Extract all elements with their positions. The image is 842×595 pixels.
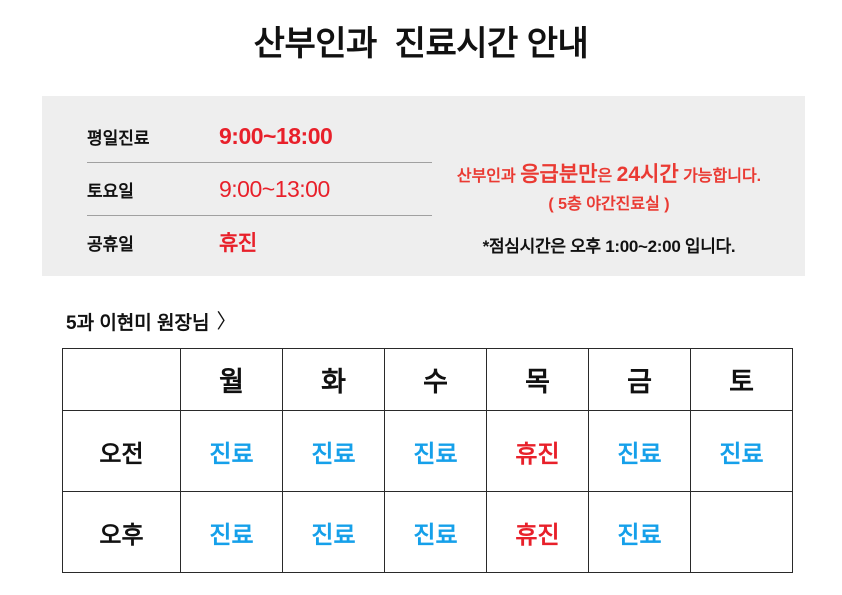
emergency-text-2: 은	[597, 168, 616, 185]
doctor-name: 5과 이현미 원장님	[66, 308, 210, 335]
emergency-highlight-24h: 24시간	[617, 163, 679, 186]
hours-label-weekday: 평일진료	[87, 124, 219, 149]
schedule-cell-afternoon-fri: 진료	[589, 492, 691, 573]
emergency-location-note: ( 5층 야간진료실 )	[414, 190, 804, 214]
hours-label-holiday: 공휴일	[87, 230, 219, 255]
schedule-cell-afternoon-tue: 진료	[283, 492, 385, 573]
table-row: 오후 진료 진료 진료 휴진 진료	[63, 492, 793, 573]
schedule-rowlabel-morning: 오전	[63, 411, 181, 492]
schedule-header-row: 월 화 수 목 금 토	[63, 349, 793, 411]
page-title: 산부인과 진료시간 안내	[0, 16, 842, 65]
hours-value-weekday: 9:00~18:00	[219, 123, 332, 150]
weekly-hours-list: 평일진료 9:00~18:00 토요일 9:00~13:00 공휴일 휴진	[87, 110, 432, 268]
schedule-corner-cell	[63, 349, 181, 411]
hours-row-saturday: 토요일 9:00~13:00	[87, 162, 432, 215]
schedule-header-sat: 토	[691, 349, 793, 411]
table-row: 오전 진료 진료 진료 휴진 진료 진료	[63, 411, 793, 492]
schedule-rowlabel-afternoon: 오후	[63, 492, 181, 573]
schedule-cell-afternoon-wed: 진료	[385, 492, 487, 573]
emergency-notice: 산부인과 응급분만은 24시간 가능합니다.	[414, 162, 804, 188]
schedule-header-mon: 월	[181, 349, 283, 411]
emergency-highlight-delivery: 응급분만	[520, 163, 597, 186]
schedule-cell-morning-mon: 진료	[181, 411, 283, 492]
emergency-text-3: 가능합니다.	[679, 168, 762, 185]
schedule-cell-afternoon-sat	[691, 492, 793, 573]
chevron-right-icon: 〉	[217, 312, 237, 332]
doctor-link[interactable]: 5과 이현미 원장님 〉	[66, 308, 237, 335]
emergency-text-1: 산부인과	[457, 168, 520, 185]
schedule-cell-morning-thu: 휴진	[487, 411, 589, 492]
hours-row-weekday: 평일진료 9:00~18:00	[87, 110, 432, 162]
schedule-header-wed: 수	[385, 349, 487, 411]
schedule-cell-afternoon-mon: 진료	[181, 492, 283, 573]
hours-value-holiday: 휴진	[219, 227, 257, 257]
hours-value-saturday: 9:00~13:00	[219, 176, 330, 203]
schedule-header-fri: 금	[589, 349, 691, 411]
notices-block: 산부인과 응급분만은 24시간 가능합니다. ( 5층 야간진료실 ) *점심시…	[414, 162, 804, 257]
clinic-hours-panel: 평일진료 9:00~18:00 토요일 9:00~13:00 공휴일 휴진 산부…	[42, 96, 805, 276]
schedule-header-thu: 목	[487, 349, 589, 411]
hours-row-holiday: 공휴일 휴진	[87, 215, 432, 268]
schedule-header-tue: 화	[283, 349, 385, 411]
weekly-schedule-table: 월 화 수 목 금 토 오전 진료 진료 진료 휴진 진료 진료 오후 진료 진…	[62, 348, 793, 573]
schedule-cell-morning-wed: 진료	[385, 411, 487, 492]
schedule-cell-afternoon-thu: 휴진	[487, 492, 589, 573]
clinic-hours-page: { "page": { "title": "산부인과 진료시간 안내" }, "…	[0, 0, 842, 595]
hours-label-saturday: 토요일	[87, 177, 219, 202]
lunch-break-note: *점심시간은 오후 1:00~2:00 입니다.	[414, 232, 804, 257]
schedule-cell-morning-fri: 진료	[589, 411, 691, 492]
schedule-cell-morning-tue: 진료	[283, 411, 385, 492]
schedule-cell-morning-sat: 진료	[691, 411, 793, 492]
